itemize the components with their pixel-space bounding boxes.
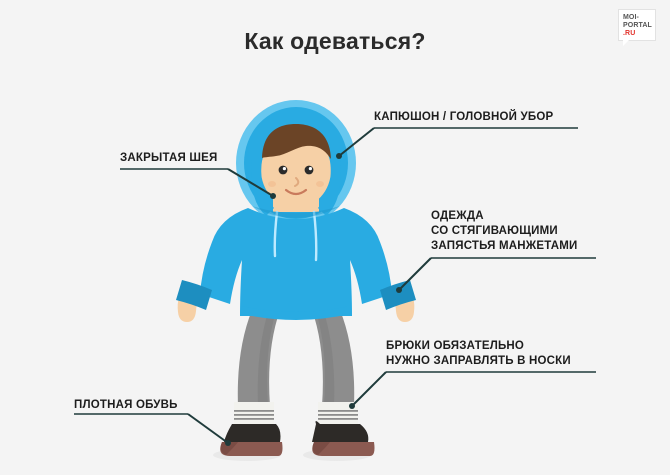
leader-pants bbox=[352, 372, 386, 406]
callout-cuffs: ОДЕЖДА СО СТЯГИВАЮЩИМИ ЗАПЯСТЬЯ МАНЖЕТАМ… bbox=[431, 209, 578, 254]
callout-hood-line-1: КАПЮШОН / ГОЛОВНОЙ УБОР bbox=[374, 110, 553, 125]
callout-pants-line-1: БРЮКИ ОБЯЗАТЕЛЬНО bbox=[386, 339, 571, 354]
leader-dot-neck bbox=[270, 193, 276, 199]
callout-cuffs-line-3: ЗАПЯСТЬЯ МАНЖЕТАМИ bbox=[431, 239, 578, 254]
leader-neck bbox=[228, 169, 273, 196]
leader-cuffs bbox=[399, 258, 431, 290]
leader-dot-shoes bbox=[225, 440, 231, 446]
callout-cuffs-line-1: ОДЕЖДА bbox=[431, 209, 578, 224]
leader-dot-cuffs bbox=[396, 287, 402, 293]
callout-hood: КАПЮШОН / ГОЛОВНОЙ УБОР bbox=[374, 110, 553, 125]
callout-cuffs-line-2: СО СТЯГИВАЮЩИМИ bbox=[431, 224, 578, 239]
infographic-canvas: Как одеваться? MOI- PORTAL .RU bbox=[0, 0, 670, 475]
callout-shoes-line-1: ПЛОТНАЯ ОБУВЬ bbox=[74, 398, 178, 413]
callout-shoes: ПЛОТНАЯ ОБУВЬ bbox=[74, 398, 178, 413]
callout-neck: ЗАКРЫТАЯ ШЕЯ bbox=[120, 151, 217, 166]
leader-dot-hood bbox=[336, 153, 342, 159]
leader-shoes bbox=[188, 414, 228, 443]
callout-pants-line-2: НУЖНО ЗАПРАВЛЯТЬ В НОСКИ bbox=[386, 354, 571, 369]
leader-dot-pants bbox=[349, 403, 355, 409]
callout-pants: БРЮКИ ОБЯЗАТЕЛЬНО НУЖНО ЗАПРАВЛЯТЬ В НОС… bbox=[386, 339, 571, 369]
leader-hood bbox=[339, 128, 374, 156]
callout-neck-line-1: ЗАКРЫТАЯ ШЕЯ bbox=[120, 151, 217, 166]
